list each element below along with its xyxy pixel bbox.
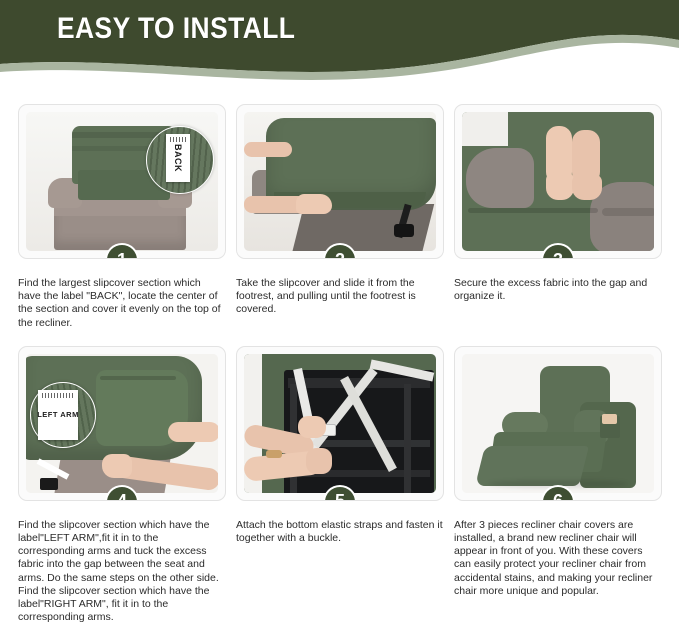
bracelet-icon: [266, 450, 282, 458]
back-label-tag: BACK: [166, 134, 190, 182]
step-6-image: [462, 354, 654, 493]
step-cell-6: 6 After 3 pieces recliner chair covers a…: [454, 346, 662, 625]
step-5-image: [244, 354, 436, 493]
steps-grid: BACK 1 Find the largest slipcover sectio…: [0, 104, 679, 624]
step-caption-1: Find the largest slipcover section which…: [18, 277, 226, 330]
step-caption-5: Attach the bottom elastic straps and fas…: [236, 519, 444, 545]
step-caption-3: Secure the excess fabric into the gap an…: [454, 277, 662, 303]
step-4-image: LEFT ARM: [26, 354, 218, 493]
back-label-text: BACK: [173, 144, 183, 172]
page-title: EASY TO INSTALL: [57, 12, 295, 46]
step-2-image: [244, 112, 436, 251]
step-3-image: [462, 112, 654, 251]
page-header: EASY TO INSTALL: [0, 0, 679, 96]
buckle-clip-icon: [394, 224, 414, 237]
step-cell-3: 3 Secure the excess fabric into the gap …: [454, 104, 662, 330]
step-caption-2: Take the slipcover and slide it from the…: [236, 277, 444, 317]
step-card-2: 2: [236, 104, 444, 259]
left-arm-label-text: LEFT ARM: [37, 410, 79, 419]
left-arm-label-tag: LEFT ARM: [38, 390, 78, 440]
step-cell-2: 2 Take the slipcover and slide it from t…: [236, 104, 444, 330]
step-1-image: BACK: [26, 112, 218, 251]
step-card-5: 5: [236, 346, 444, 501]
buckle-icon: [40, 478, 58, 490]
step-cell-4: LEFT ARM 4 Find the slipcover section wh…: [18, 346, 226, 625]
step-card-4: LEFT ARM 4: [18, 346, 226, 501]
step-card-6: 6: [454, 346, 662, 501]
step-card-3: 3: [454, 104, 662, 259]
step-cell-1: BACK 1 Find the largest slipcover sectio…: [18, 104, 226, 330]
step-caption-6: After 3 pieces recliner chair covers are…: [454, 519, 662, 598]
step-card-1: BACK 1: [18, 104, 226, 259]
step-cell-5: 5 Attach the bottom elastic straps and f…: [236, 346, 444, 625]
step-caption-4: Find the slipcover section which have th…: [18, 519, 226, 625]
